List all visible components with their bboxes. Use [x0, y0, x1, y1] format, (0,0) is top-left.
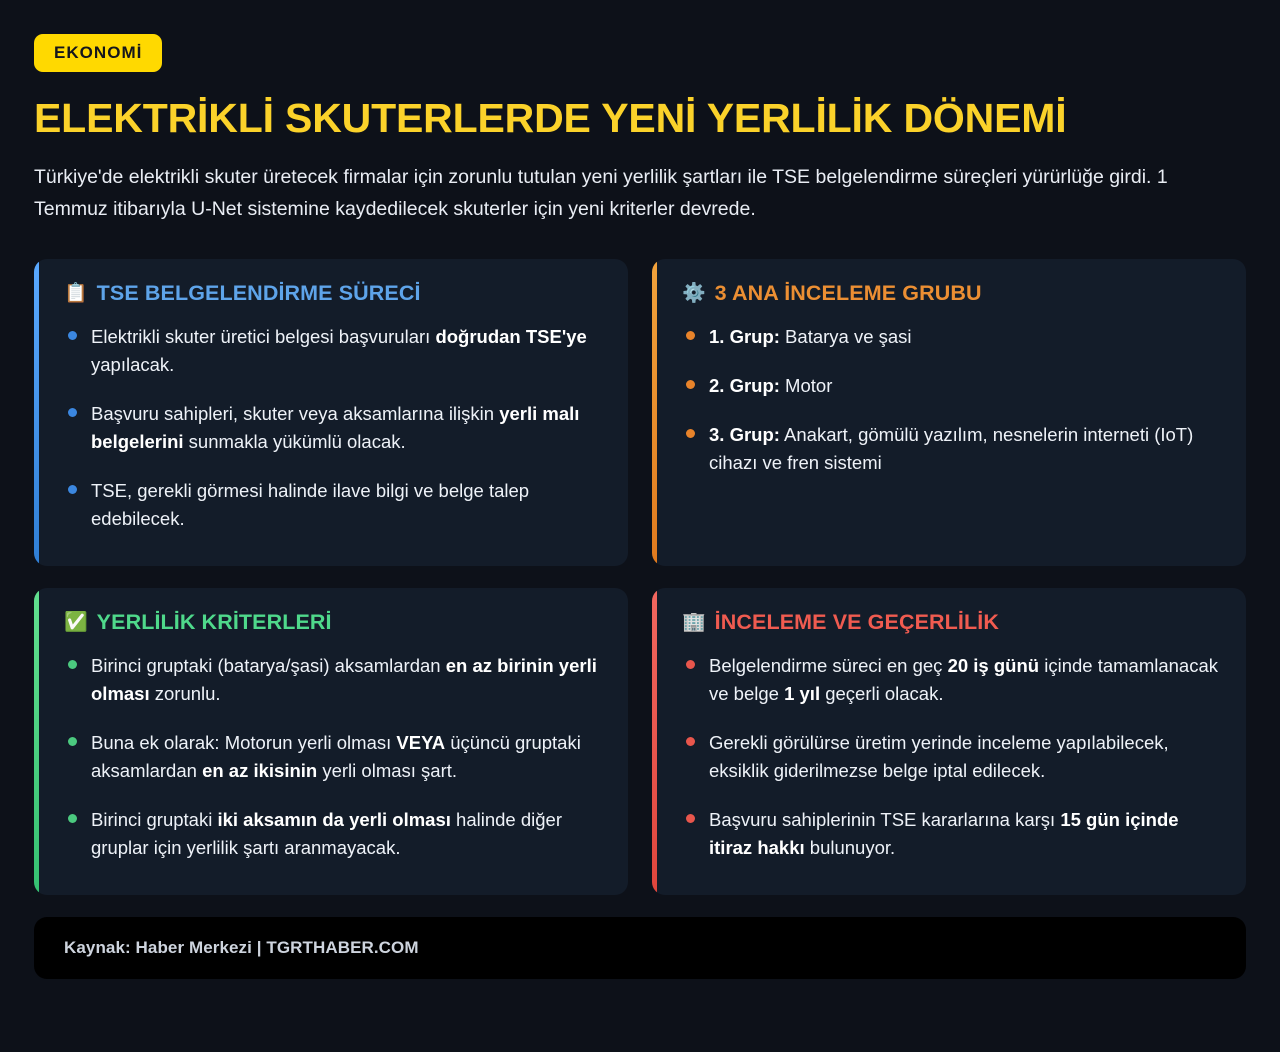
list-item: Başvuru sahipleri, skuter veya aksamları…	[64, 400, 602, 456]
list-item: Belgelendirme süreci en geç 20 iş günü i…	[682, 652, 1220, 708]
clipboard-icon: 📋	[64, 284, 88, 303]
bullet-list: Birinci gruptaki (batarya/şasi) aksamlar…	[58, 652, 602, 863]
source-text: Kaynak: Haber Merkezi | TGRTHABER.COM	[64, 938, 419, 958]
bullet-text: Elektrikli skuter üretici belgesi başvur…	[91, 323, 602, 379]
bullet-text: Birinci gruptaki iki aksamın da yerli ol…	[91, 806, 602, 862]
list-item: 3. Grup: Anakart, gömülü yazılım, nesnel…	[682, 421, 1220, 477]
bullet-dot-icon	[686, 380, 695, 389]
list-item: Elektrikli skuter üretici belgesi başvur…	[64, 323, 602, 379]
card-title: TSE BELGELENDİRME SÜRECİ	[97, 281, 421, 306]
card-accent-bar	[34, 259, 39, 566]
bullet-list: 1. Grup: Batarya ve şasi2. Grup: Motor3.…	[676, 323, 1220, 477]
bullet-text: 3. Grup: Anakart, gömülü yazılım, nesnel…	[709, 421, 1220, 477]
office-building-icon: 🏢	[682, 613, 706, 632]
bullet-text: Buna ek olarak: Motorun yerli olması VEY…	[91, 729, 602, 785]
card-title: İNCELEME VE GEÇERLİLİK	[715, 610, 999, 635]
bullet-text: Başvuru sahiplerinin TSE kararlarına kar…	[709, 806, 1220, 862]
list-item: Birinci gruptaki iki aksamın da yerli ol…	[64, 806, 602, 862]
bullet-dot-icon	[68, 408, 77, 417]
bullet-list: Belgelendirme süreci en geç 20 iş günü i…	[676, 652, 1220, 863]
bullet-text: Gerekli görülürse üretim yerinde incelem…	[709, 729, 1220, 785]
bullet-dot-icon	[68, 660, 77, 669]
bullet-text: Birinci gruptaki (batarya/şasi) aksamlar…	[91, 652, 602, 708]
card-3-ana-inceleme-grubu: ⚙️3 ANA İNCELEME GRUBU1. Grup: Batarya v…	[652, 259, 1246, 566]
card-accent-bar	[652, 259, 657, 566]
bullet-text: TSE, gerekli görmesi halinde ilave bilgi…	[91, 477, 602, 533]
bullet-dot-icon	[68, 331, 77, 340]
list-item: 2. Grup: Motor	[682, 372, 1220, 400]
card-header: 📋TSE BELGELENDİRME SÜRECİ	[58, 281, 602, 306]
bullet-dot-icon	[686, 331, 695, 340]
card-tse-belgelendirme-sureci: 📋TSE BELGELENDİRME SÜRECİElektrikli skut…	[34, 259, 628, 566]
bullet-text: Belgelendirme süreci en geç 20 iş günü i…	[709, 652, 1220, 708]
card-title: YERLİLİK KRİTERLERİ	[97, 610, 332, 635]
source-bar: Kaynak: Haber Merkezi | TGRTHABER.COM	[34, 917, 1246, 979]
list-item: 1. Grup: Batarya ve şasi	[682, 323, 1220, 351]
page-title: ELEKTRİKLİ SKUTERLERDE YENİ YERLİLİK DÖN…	[34, 97, 1246, 140]
list-item: Buna ek olarak: Motorun yerli olması VEY…	[64, 729, 602, 785]
list-item: Birinci gruptaki (batarya/şasi) aksamlar…	[64, 652, 602, 708]
bullet-list: Elektrikli skuter üretici belgesi başvur…	[58, 323, 602, 534]
card-header: ✅YERLİLİK KRİTERLERİ	[58, 610, 602, 635]
card-yerlilik-kriterleri: ✅YERLİLİK KRİTERLERİBirinci gruptaki (ba…	[34, 588, 628, 895]
gear-icon: ⚙️	[682, 284, 706, 303]
card-title: 3 ANA İNCELEME GRUBU	[715, 281, 982, 306]
bullet-dot-icon	[686, 660, 695, 669]
list-item: Başvuru sahiplerinin TSE kararlarına kar…	[682, 806, 1220, 862]
check-mark-button-icon: ✅	[64, 613, 88, 632]
bullet-dot-icon	[68, 485, 77, 494]
infographic-page: EKONOMİ ELEKTRİKLİ SKUTERLERDE YENİ YERL…	[0, 0, 1280, 1052]
card-accent-bar	[34, 588, 39, 895]
bullet-text: 2. Grup: Motor	[709, 372, 832, 400]
bullet-dot-icon	[68, 814, 77, 823]
category-badge: EKONOMİ	[34, 34, 162, 72]
list-item: TSE, gerekli görmesi halinde ilave bilgi…	[64, 477, 602, 533]
card-grid: 📋TSE BELGELENDİRME SÜRECİElektrikli skut…	[34, 259, 1246, 895]
bullet-text: Başvuru sahipleri, skuter veya aksamları…	[91, 400, 602, 456]
bullet-dot-icon	[68, 737, 77, 746]
standfirst-paragraph: Türkiye'de elektrikli skuter üretecek fi…	[34, 162, 1199, 225]
list-item: Gerekli görülürse üretim yerinde incelem…	[682, 729, 1220, 785]
bullet-text: 1. Grup: Batarya ve şasi	[709, 323, 912, 351]
card-inceleme-ve-gecerlilik: 🏢İNCELEME VE GEÇERLİLİKBelgelendirme sür…	[652, 588, 1246, 895]
bullet-dot-icon	[686, 429, 695, 438]
card-header: ⚙️3 ANA İNCELEME GRUBU	[676, 281, 1220, 306]
card-header: 🏢İNCELEME VE GEÇERLİLİK	[676, 610, 1220, 635]
card-accent-bar	[652, 588, 657, 895]
bullet-dot-icon	[686, 814, 695, 823]
bullet-dot-icon	[686, 737, 695, 746]
